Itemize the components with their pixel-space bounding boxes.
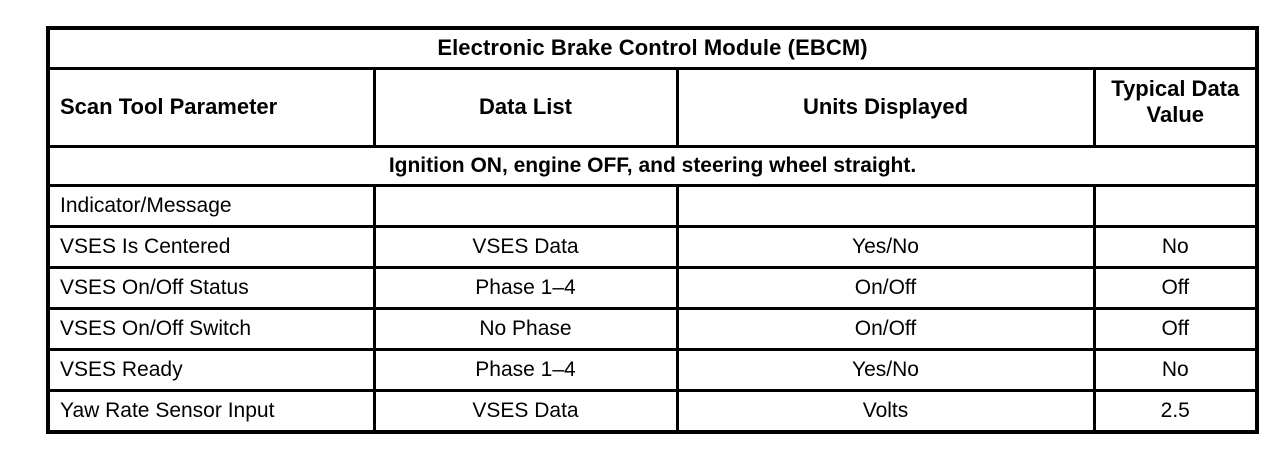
table-row: VSES On/Off Switch No Phase On/Off Off: [48, 309, 1257, 350]
column-header-typical-data-value: Typical Data Value: [1094, 69, 1257, 147]
cell-parameter: VSES On/Off Status: [48, 268, 374, 309]
cell-typical-value: [1094, 186, 1257, 227]
cell-units: On/Off: [677, 268, 1094, 309]
cell-typical-value: 2.5: [1094, 391, 1257, 433]
cell-parameter: VSES Ready: [48, 350, 374, 391]
cell-units: Yes/No: [677, 227, 1094, 268]
column-header-data-list: Data List: [374, 69, 677, 147]
table-row: Yaw Rate Sensor Input VSES Data Volts 2.…: [48, 391, 1257, 433]
table-body: Electronic Brake Control Module (EBCM) S…: [48, 28, 1257, 432]
test-condition-row: Ignition ON, engine OFF, and steering wh…: [48, 147, 1257, 186]
cell-units: Yes/No: [677, 350, 1094, 391]
cell-typical-value: No: [1094, 227, 1257, 268]
column-header-row: Scan Tool Parameter Data List Units Disp…: [48, 69, 1257, 147]
page-canvas: Electronic Brake Control Module (EBCM) S…: [0, 0, 1280, 450]
cell-parameter: VSES On/Off Switch: [48, 309, 374, 350]
test-condition-text: Ignition ON, engine OFF, and steering wh…: [48, 147, 1257, 186]
cell-typical-value: No: [1094, 350, 1257, 391]
table-row: VSES On/Off Status Phase 1–4 On/Off Off: [48, 268, 1257, 309]
table-row: VSES Ready Phase 1–4 Yes/No No: [48, 350, 1257, 391]
cell-units: [677, 186, 1094, 227]
table-row: VSES Is Centered VSES Data Yes/No No: [48, 227, 1257, 268]
cell-data-list: Phase 1–4: [374, 350, 677, 391]
cell-typical-value: Off: [1094, 309, 1257, 350]
cell-data-list: Phase 1–4: [374, 268, 677, 309]
cell-typical-value: Off: [1094, 268, 1257, 309]
table-row: Indicator/Message: [48, 186, 1257, 227]
column-header-units-displayed: Units Displayed: [677, 69, 1094, 147]
table-title-row: Electronic Brake Control Module (EBCM): [48, 28, 1257, 69]
cell-data-list: [374, 186, 677, 227]
cell-parameter: Yaw Rate Sensor Input: [48, 391, 374, 433]
cell-parameter: Indicator/Message: [48, 186, 374, 227]
table-title: Electronic Brake Control Module (EBCM): [48, 28, 1257, 69]
column-header-scan-tool-parameter: Scan Tool Parameter: [48, 69, 374, 147]
cell-data-list: No Phase: [374, 309, 677, 350]
cell-units: On/Off: [677, 309, 1094, 350]
cell-data-list: VSES Data: [374, 227, 677, 268]
cell-parameter: VSES Is Centered: [48, 227, 374, 268]
cell-data-list: VSES Data: [374, 391, 677, 433]
ebcm-scan-tool-parameter-table: Electronic Brake Control Module (EBCM) S…: [46, 26, 1259, 434]
cell-units: Volts: [677, 391, 1094, 433]
